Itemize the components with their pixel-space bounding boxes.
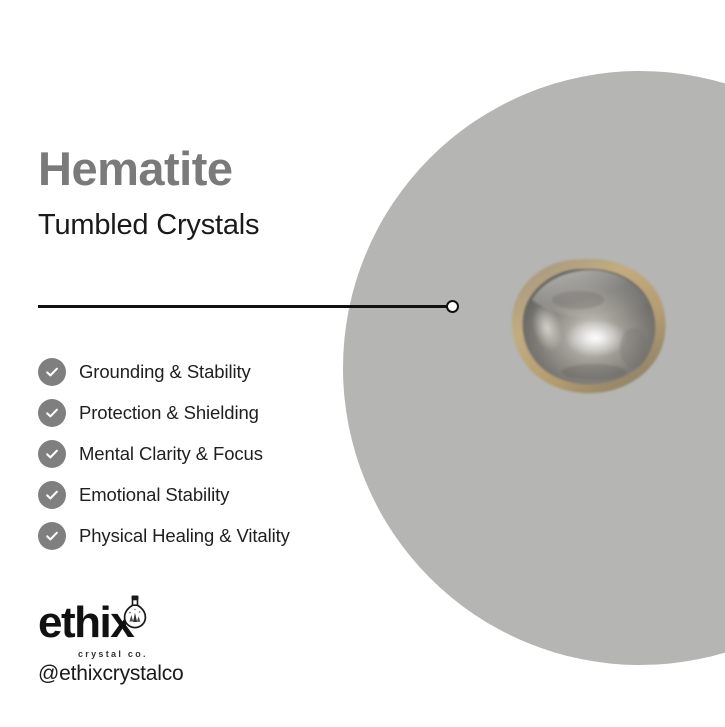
list-item: Protection & Shielding <box>38 392 368 433</box>
check-circle-icon <box>38 358 66 386</box>
benefit-label: Emotional Stability <box>79 484 229 506</box>
benefit-label: Physical Healing & Vitality <box>79 525 290 547</box>
check-circle-icon <box>38 440 66 468</box>
brand-wordmark-text: ethix <box>38 598 133 647</box>
social-handle: @ethixcrystalco <box>38 662 184 686</box>
leader-line-endpoint-icon <box>446 300 459 313</box>
check-circle-icon <box>38 522 66 550</box>
brand-tagline: crystal co. <box>78 649 148 659</box>
potion-bottle-icon <box>122 593 148 627</box>
list-item: Physical Healing & Vitality <box>38 515 368 556</box>
list-item: Mental Clarity & Focus <box>38 433 368 474</box>
page-title: Hematite <box>38 145 233 192</box>
list-item: Grounding & Stability <box>38 351 368 392</box>
benefit-label: Protection & Shielding <box>79 402 259 424</box>
check-circle-icon <box>38 481 66 509</box>
check-circle-icon <box>38 399 66 427</box>
product-graphic-canvas: Hematite Tumbled Crystals Grounding & St… <box>0 0 725 727</box>
benefits-list: Grounding & Stability Protection & Shiel… <box>38 351 368 556</box>
hematite-tumbled-stone <box>508 256 670 396</box>
brand-wordmark: ethix <box>38 601 148 645</box>
leader-line <box>38 305 452 308</box>
list-item: Emotional Stability <box>38 474 368 515</box>
benefit-label: Mental Clarity & Focus <box>79 443 263 465</box>
brand-logo: ethix crystal co <box>38 601 148 659</box>
page-subtitle: Tumbled Crystals <box>38 211 259 240</box>
benefit-label: Grounding & Stability <box>79 361 251 383</box>
